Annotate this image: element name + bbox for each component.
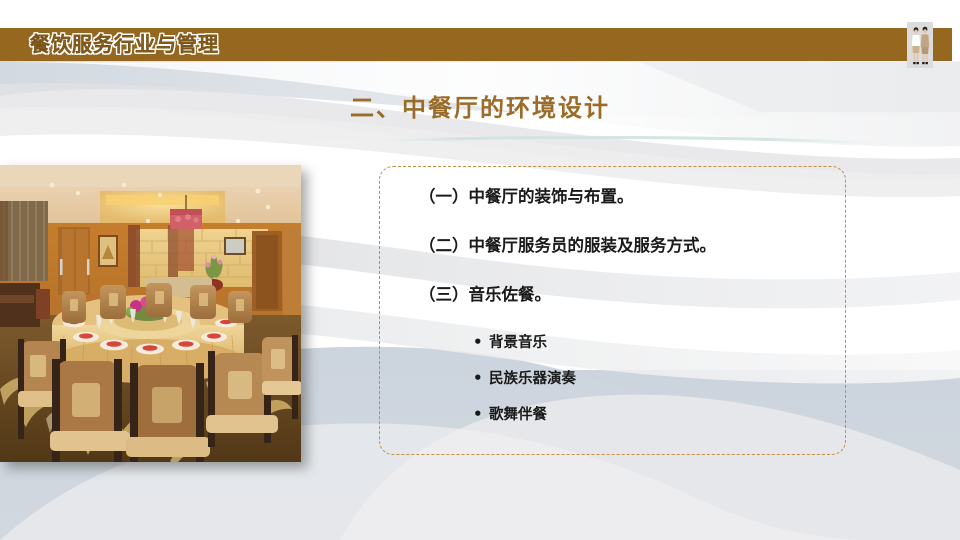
section-title: 二、中餐厅的环境设计 [0, 88, 960, 123]
staff-figures-svg [907, 22, 933, 68]
list-item: • 背景音乐 [473, 333, 849, 353]
two-service-staff-photo-icon [907, 22, 933, 68]
presentation-slide: 餐饮服务行业与管理 二、中餐厅的环境设计 [0, 0, 960, 540]
content-item-1: （一）中餐厅的装饰与布置。 [419, 186, 849, 208]
header-title: 餐饮服务行业与管理 [30, 30, 219, 59]
content-list: （一）中餐厅的装饰与布置。 （二）中餐厅服务员的服装及服务方式。 （三）音乐佐餐… [419, 186, 849, 441]
list-item-label: 背景音乐 [489, 334, 547, 353]
bullet-dot-icon: • [473, 369, 489, 388]
bullet-dot-icon: • [473, 333, 489, 352]
content-item-2: （二）中餐厅服务员的服装及服务方式。 [419, 235, 849, 257]
dining-room-illustration [0, 165, 301, 462]
list-item: • 歌舞伴餐 [473, 405, 849, 425]
bullet-list: • 背景音乐 • 民族乐器演奏 • 歌舞伴餐 [473, 333, 849, 425]
chinese-private-dining-room-photo [0, 165, 301, 462]
bullet-dot-icon: • [473, 405, 489, 424]
list-item-label: 民族乐器演奏 [489, 370, 576, 389]
content-item-3: （三）音乐佐餐。 [419, 284, 849, 306]
list-item: • 民族乐器演奏 [473, 369, 849, 389]
list-item-label: 歌舞伴餐 [489, 406, 547, 425]
header-title-text: 餐饮服务行业与管理 [30, 32, 219, 56]
